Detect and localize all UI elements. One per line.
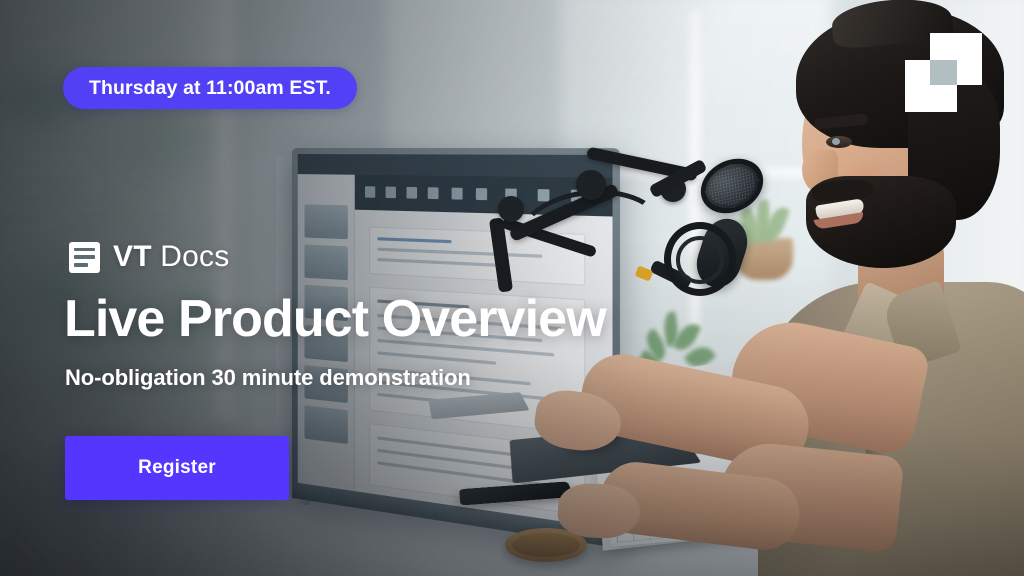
page-title: Live Product Overview xyxy=(64,292,606,347)
document-lines-icon xyxy=(69,242,100,273)
brand-name-bold: VT xyxy=(113,240,152,273)
brand-name-light: Docs xyxy=(160,240,229,273)
banner-content: Thursday at 11:00am EST. VT Docs Live Pr… xyxy=(0,0,1024,576)
brand-lockup: VT Docs xyxy=(69,240,229,274)
register-button[interactable]: Register xyxy=(65,436,289,500)
brand-name: VT Docs xyxy=(113,240,229,274)
page-subtitle: No-obligation 30 minute demonstration xyxy=(65,365,471,391)
webinar-promo-banner: Thursday at 11:00am EST. VT Docs Live Pr… xyxy=(0,0,1024,576)
schedule-badge-label: Thursday at 11:00am EST. xyxy=(89,77,331,100)
interlocking-squares-logo xyxy=(900,20,990,115)
schedule-badge: Thursday at 11:00am EST. xyxy=(63,67,357,109)
logo-overlap-notch xyxy=(930,60,957,85)
